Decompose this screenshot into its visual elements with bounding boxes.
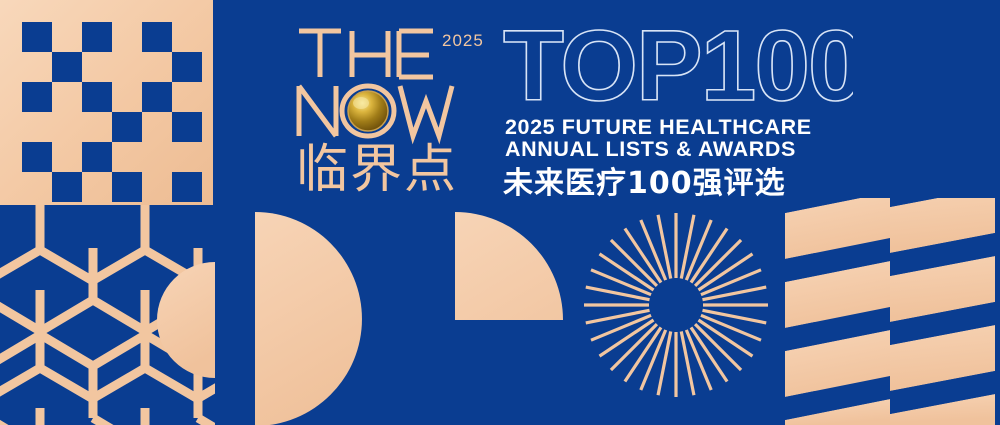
year-superscript: 2025 (442, 31, 484, 50)
brand-lockup: 2025 临界点 (296, 24, 491, 194)
brand-chinese-name: 临界点 (296, 140, 458, 194)
checkerboard-pattern (0, 0, 213, 205)
chevron-stripes (785, 187, 995, 425)
headline-chinese-line: 未来医疗100强评选 (503, 158, 786, 202)
headline-english-line-1: 2025 FUTURE HEALTHCARE (505, 116, 812, 139)
top100-text: TOP100 (503, 18, 853, 114)
notched-circle-square-cut (455, 320, 563, 425)
poster-canvas: 2025 临界点 TOP100 (0, 0, 1000, 425)
top100-outline-title: TOP100 (503, 18, 853, 114)
gold-orb (348, 91, 388, 131)
headline-block: TOP100 2025 FUTURE HEALTHCARE ANNUAL LIS… (503, 18, 853, 193)
word-the (299, 31, 433, 77)
the-now-logotype: 2025 临界点 (296, 24, 491, 194)
